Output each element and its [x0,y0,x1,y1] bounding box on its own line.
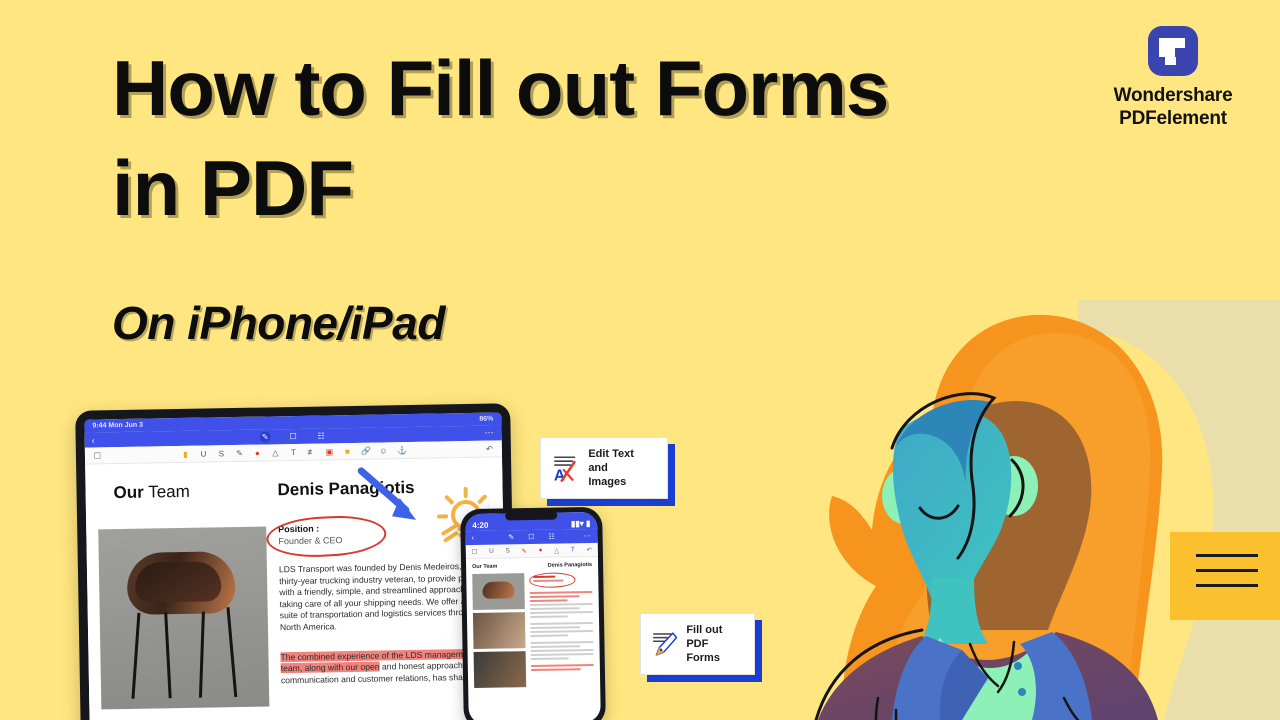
underline-icon[interactable]: U [199,449,208,458]
pen-icon[interactable]: ✎ [235,448,244,457]
iphone-photo-column [472,573,526,691]
position-field-group: Position : Founder & CEO [278,522,406,546]
feature-card-label: Fill out PDF Forms [686,623,742,665]
iphone-text-column [529,572,594,690]
ipad-device-mockup: 9:44 Mon Jun 3 86% ‹ ✎ ☐ ☷ ⋯ ☐ ▮ U S ✎ ●… [75,403,516,720]
more-horizontal-icon[interactable]: ⋯ [584,532,592,540]
undo-icon[interactable]: ↶ [485,444,494,453]
heading-person-name: Denis Panagiotis [548,562,592,569]
document-left-column: Our Team [97,471,270,720]
workspace-photo [474,651,527,688]
title-block: How to Fill out Forms in PDF [112,38,1032,238]
attachment-icon[interactable]: ⚓ [397,446,406,455]
chair-photo [472,573,525,610]
iphone-device-mockup: 4:20 ▮▮▾ ▮ ‹ ✎ ☐ ☷ ⋯ ☐ U S ✎ ● △ T ↶ [460,507,606,720]
status-battery: 86% [479,416,493,423]
text-icon[interactable]: T [571,546,575,553]
eraser-icon[interactable]: △ [554,546,559,554]
chevron-left-icon[interactable]: ‹ [92,435,95,445]
eraser-icon[interactable]: △ [271,448,280,457]
iphone-document-page: Our Team Denis Panagiotis [466,557,600,696]
strikethrough-icon[interactable]: S [217,449,226,458]
iphone-notch [505,511,557,521]
annotate-icon[interactable]: ✎ [508,533,514,541]
text-icon[interactable]: T [289,447,298,456]
doc-line-1 [1196,554,1258,557]
select-box-icon[interactable]: ☐ [93,451,102,460]
more-horizontal-icon[interactable]: ⋯ [485,428,495,439]
blue-arrow-icon [355,466,428,529]
edit-text-pen-icon: A [551,453,580,483]
heading-our-team: Our Team [113,481,265,504]
note-icon[interactable]: ■ [343,446,352,455]
annotate-icon[interactable]: ✎ [260,431,271,442]
brand-name: Wondershare PDFelement [1088,84,1258,130]
status-time-date: 9:44 Mon Jun 3 [92,422,143,430]
iphone-document-headings: Our Team Denis Panagiotis [472,562,592,570]
chevron-left-icon[interactable]: ‹ [472,535,474,542]
doc-line-2 [1196,569,1258,572]
red-circle-annotation [529,572,575,588]
position-value[interactable]: Founder & CEO [278,534,406,546]
heading-our-team: Our Team [472,564,497,570]
select-box-icon[interactable]: ☐ [472,547,478,555]
iphone-screen: 4:20 ▮▮▾ ▮ ‹ ✎ ☐ ☷ ⋯ ☐ U S ✎ ● △ T ↶ [465,512,601,720]
undo-icon[interactable]: ↶ [586,545,592,553]
pdfelement-logo-icon [1148,26,1198,76]
page-view-icon[interactable]: ☐ [288,431,299,442]
status-indicators: ▮▮▾ ▮ [571,519,591,528]
position-label: Position : [278,522,406,534]
chair-photo [98,527,269,710]
textbox-icon[interactable]: ≢ [307,447,316,456]
feature-card-edit-text-and-images[interactable]: A Edit Text and Images [540,437,668,499]
iphone-navbar: ‹ ✎ ☐ ☷ ⋯ [465,529,597,545]
page-subtitle: On iPhone/iPad [112,294,445,352]
promo-slide: How to Fill out Forms in PDF On iPhone/i… [0,0,1280,720]
stamp-icon[interactable]: ▣ [325,447,334,456]
thumbnail-icon[interactable]: ☷ [316,430,327,441]
person-with-orange-hair-illustration [726,300,1280,720]
feature-card-label: Edit Text and Images [588,447,655,489]
ipad-document-page: Our Team Denis Panagiotis [85,457,507,720]
doc-line-3 [1196,584,1258,587]
ipad-screen: 9:44 Mon Jun 3 86% ‹ ✎ ☐ ☷ ⋯ ☐ ▮ U S ✎ ●… [84,412,507,720]
yellow-document-card [1170,532,1280,620]
interior-photo [473,612,526,649]
strikethrough-icon[interactable]: S [505,547,509,554]
underline-icon[interactable]: U [489,548,494,555]
color-dot-icon[interactable]: ● [539,547,543,554]
page-view-icon[interactable]: ☐ [528,533,534,541]
brand-lockup: Wondershare PDFelement [1088,26,1258,130]
fountain-pen-form-icon [651,629,678,659]
thumbnail-icon[interactable]: ☷ [548,533,554,541]
signature-icon[interactable]: ☺ [379,446,388,455]
highlight-icon[interactable]: ▮ [181,449,190,458]
color-dot-icon[interactable]: ● [253,448,262,457]
page-title: How to Fill out Forms in PDF [112,38,1032,238]
link-icon[interactable]: 🔗 [361,446,370,455]
pen-icon[interactable]: ✎ [521,547,527,555]
feature-card-fill-out-pdf-forms[interactable]: Fill out PDF Forms [640,613,755,675]
status-time: 4:20 [472,521,488,530]
